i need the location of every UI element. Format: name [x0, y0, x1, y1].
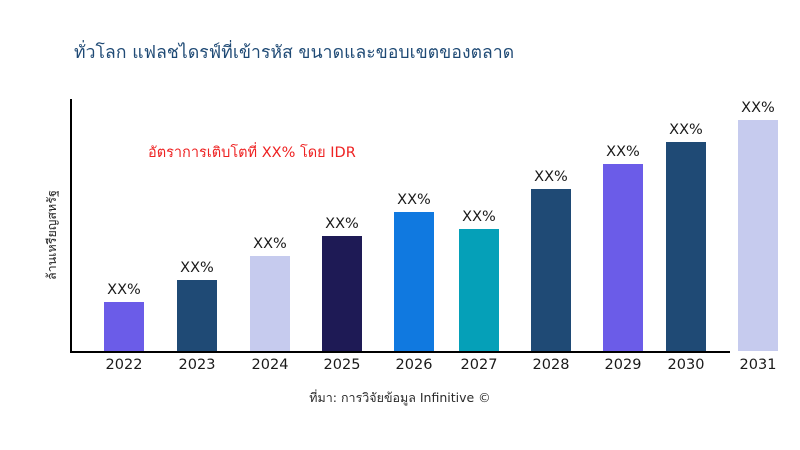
x-tick-label-2026: 2026: [384, 357, 444, 373]
x-tick-label-2023: 2023: [167, 357, 227, 373]
bar-2024[interactable]: [250, 256, 290, 351]
bar-value-label-2030: XX%: [669, 122, 703, 138]
bar-2023[interactable]: [177, 280, 217, 351]
x-tick-label-2031: 2031: [728, 357, 788, 373]
bar-2031[interactable]: [738, 120, 778, 351]
x-axis-line: [70, 351, 730, 353]
x-tick-label-2024: 2024: [240, 357, 300, 373]
bar-value-label-2025: XX%: [325, 216, 359, 232]
bar-2025[interactable]: [322, 236, 362, 351]
bar-value-label-2022: XX%: [107, 282, 141, 298]
bar-value-label-2028: XX%: [534, 169, 568, 185]
bar-2022[interactable]: [104, 302, 144, 351]
x-tick-label-2029: 2029: [593, 357, 653, 373]
bar-value-label-2024: XX%: [253, 236, 287, 252]
bar-2026[interactable]: [394, 212, 434, 351]
bar-2029[interactable]: [603, 164, 643, 351]
source-note: ที่มา: การวิจัยข้อมูล Infinitive ©: [0, 388, 800, 408]
bar-value-label-2023: XX%: [180, 260, 214, 276]
bar-value-label-2026: XX%: [397, 192, 431, 208]
bar-value-label-2029: XX%: [606, 144, 640, 160]
bar-2028[interactable]: [531, 189, 571, 351]
x-tick-label-2025: 2025: [312, 357, 372, 373]
x-tick-label-2030: 2030: [656, 357, 716, 373]
growth-rate-annotation: อัตราการเติบโตที่ XX% โดย IDR: [148, 141, 356, 164]
bar-2030[interactable]: [666, 142, 706, 351]
bar-value-label-2027: XX%: [462, 209, 496, 225]
bar-value-label-2031: XX%: [741, 100, 775, 116]
y-axis-line: [70, 99, 72, 353]
x-tick-label-2027: 2027: [449, 357, 509, 373]
x-tick-label-2028: 2028: [521, 357, 581, 373]
x-tick-label-2022: 2022: [94, 357, 154, 373]
y-axis-label: ล้านเหรียญสหรัฐ: [42, 70, 62, 280]
page-title: ทั่วโลก แฟลชไดรฟ์ที่เข้ารหัส ขนาดและขอบเ…: [74, 40, 714, 66]
chart-container: ทั่วโลก แฟลชไดรฟ์ที่เข้ารหัส ขนาดและขอบเ…: [0, 0, 800, 450]
bar-2027[interactable]: [459, 229, 499, 351]
